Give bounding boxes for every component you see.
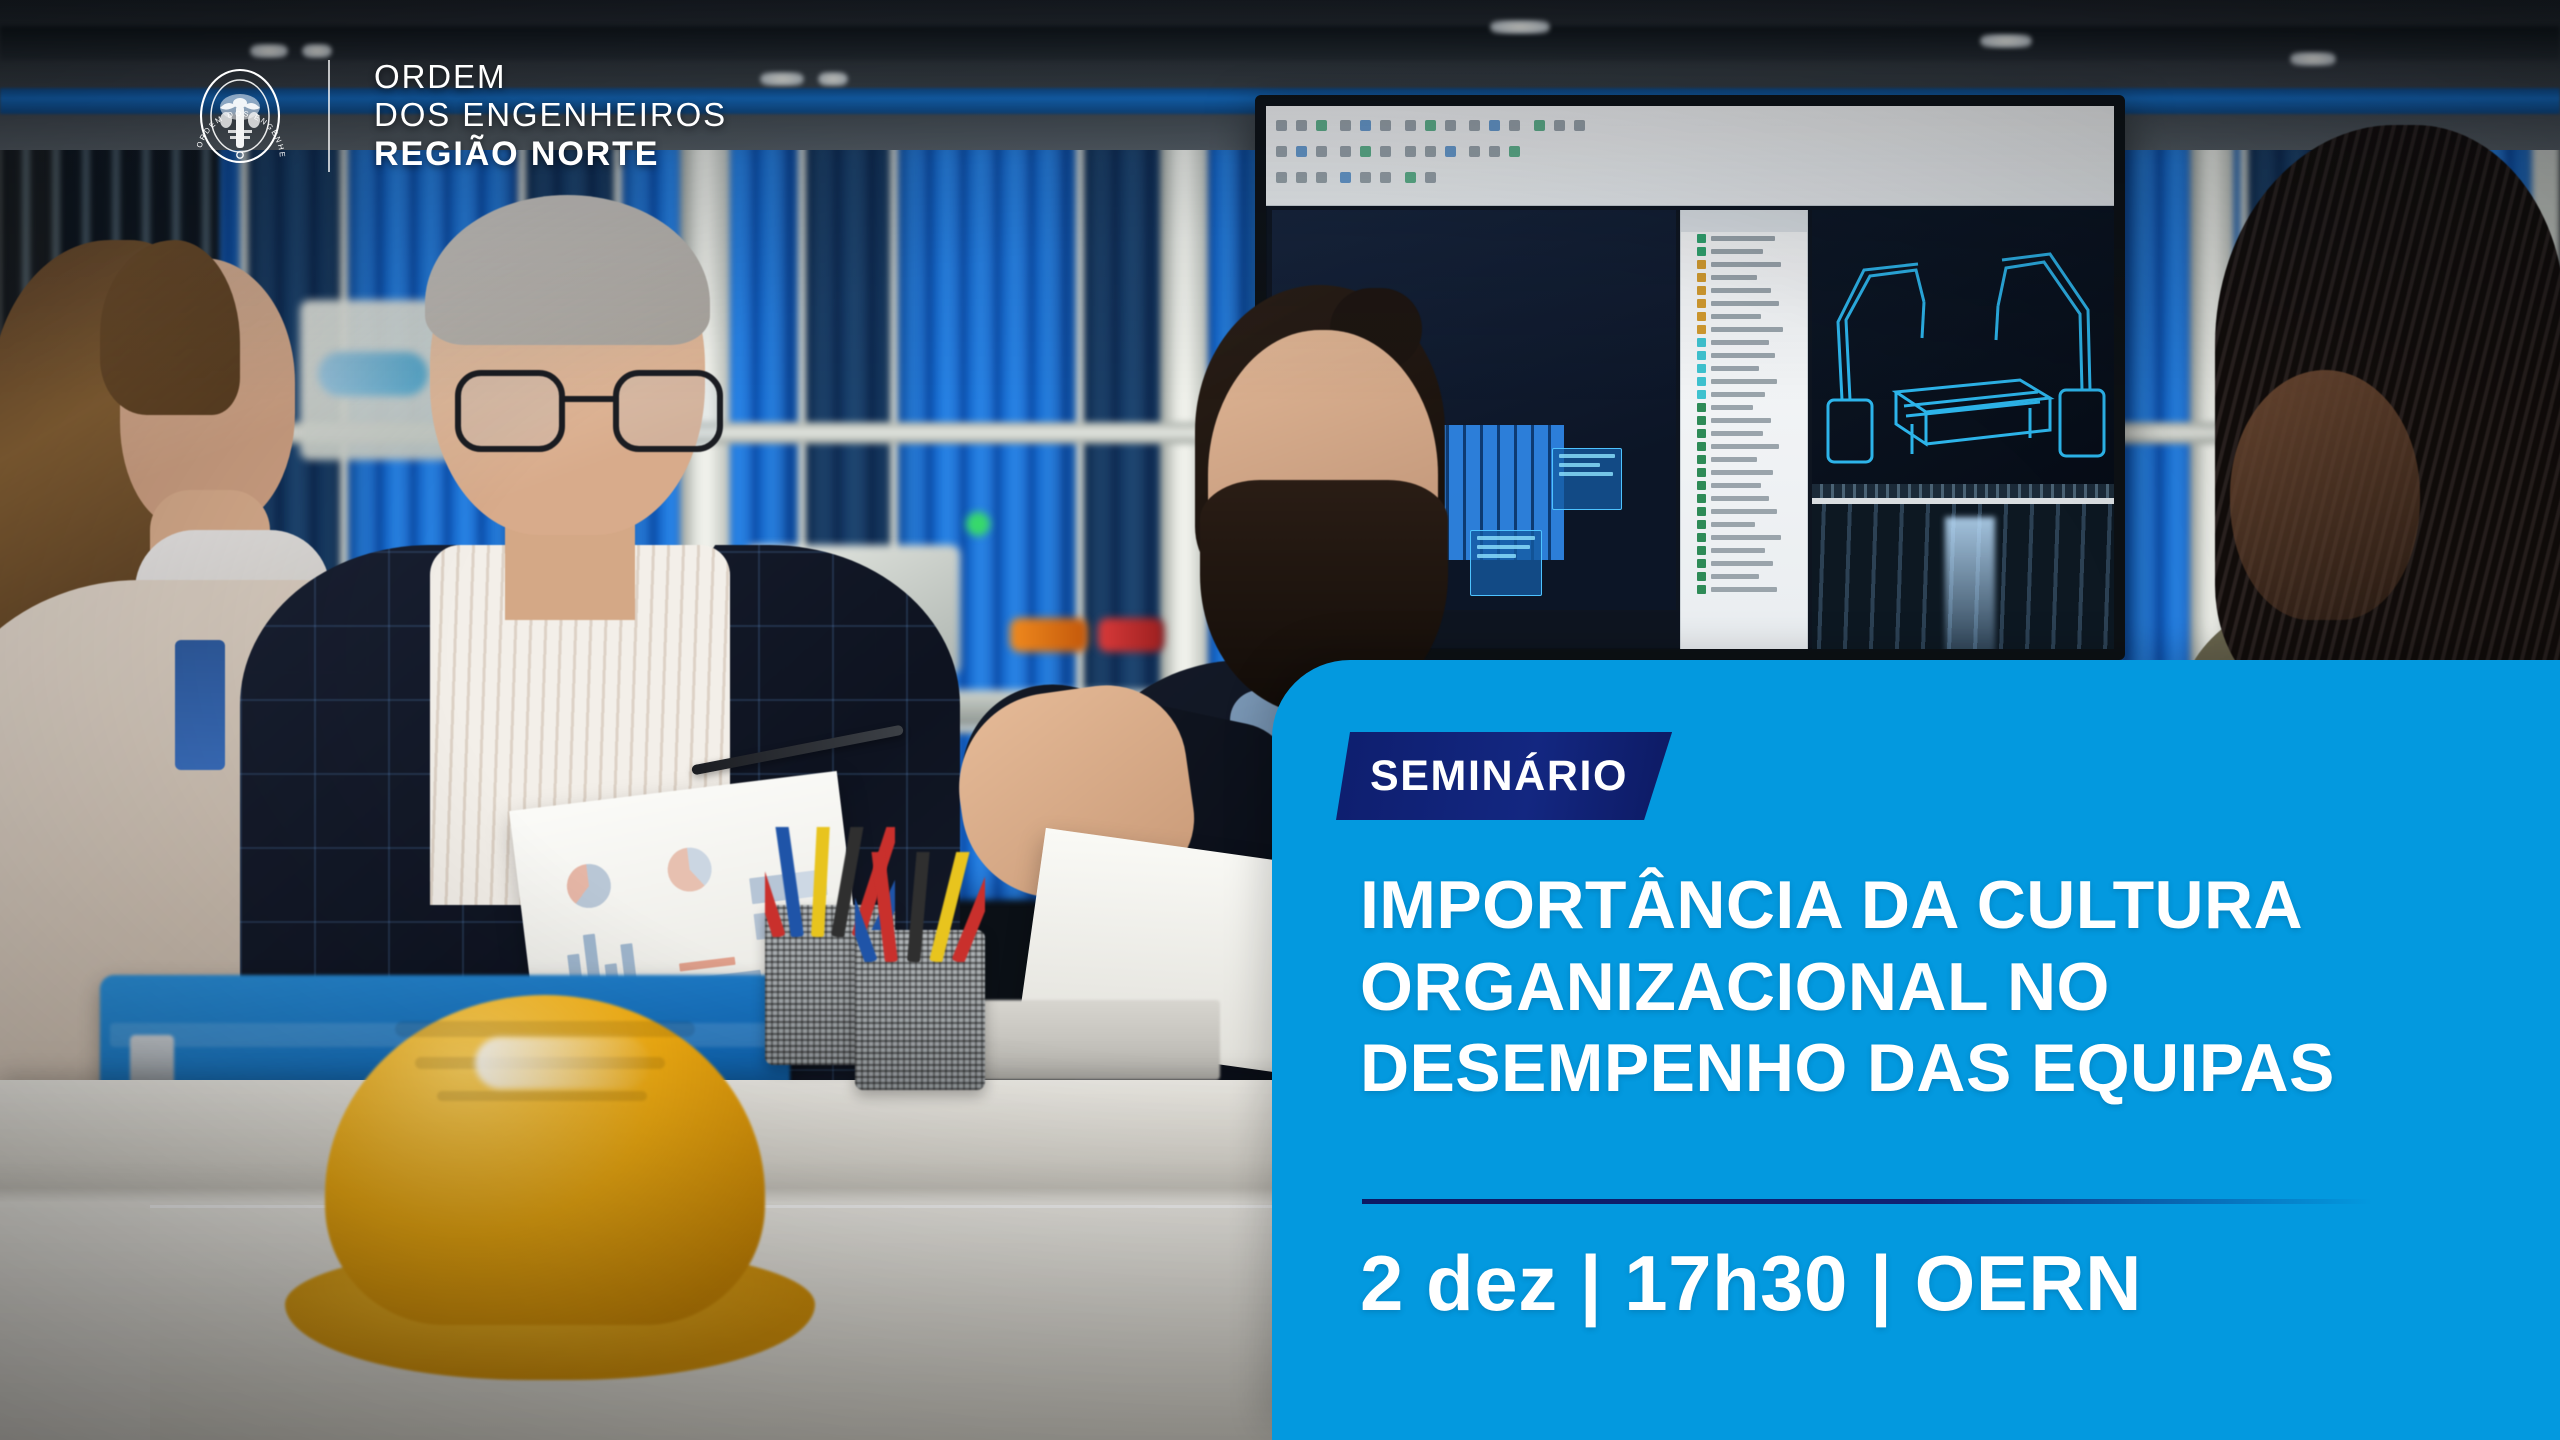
event-banner: ORDEM DOS ENGENHEIROS ORDEM DOS ENGENHEI…: [0, 0, 2560, 1440]
robot-arm-blur: [318, 352, 428, 396]
monitor-toolbar: [1266, 106, 2114, 206]
event-info-panel: SEMINÁRIO IMPORTÂNCIA DA CULTURA ORGANIZ…: [1272, 660, 2560, 1440]
indicator-panel-b: [1010, 618, 1088, 652]
ordem-dos-engenheiros-seal-icon: ORDEM DOS ENGENHEIROS: [186, 62, 294, 170]
callout-tag-3: [1470, 530, 1542, 596]
callout-tag-2: [1552, 448, 1622, 510]
robot-arm-wireframe-icon: [1812, 210, 2125, 490]
monitor-file-list: [1680, 210, 1808, 660]
event-title-line-3: DESEMPENHO DAS EQUIPAS: [1360, 1028, 2490, 1110]
lanyard-badge: [175, 640, 225, 770]
yellow-hard-hat: [285, 995, 815, 1390]
logo-divider: [328, 60, 330, 172]
event-title-line-2: ORGANIZACIONAL NO: [1360, 947, 2490, 1029]
cad-status-bar: [1812, 484, 2125, 498]
indicator-panel-c: [1098, 618, 1164, 652]
robot-arm-cad-viewport: [1812, 210, 2125, 490]
title-date-divider: [1362, 1199, 2372, 1204]
event-title-line-1: IMPORTÂNCIA DA CULTURA: [1360, 865, 2490, 947]
logo-line-2: DOS ENGENHEIROS: [374, 96, 727, 134]
eyeglasses-icon: [455, 370, 725, 460]
event-type-badge: SEMINÁRIO: [1336, 732, 1672, 820]
factory-camera-feed: [1812, 504, 2125, 660]
badge-label: SEMINÁRIO: [1370, 752, 1628, 801]
pen-holder-right: [855, 930, 985, 1090]
oern-logo: ORDEM DOS ENGENHEIROS ORDEM DOS ENGENHEI…: [186, 58, 727, 174]
logo-line-1: ORDEM: [374, 58, 727, 96]
logo-wordmark: ORDEM DOS ENGENHEIROS REGIÃO NORTE: [374, 58, 727, 174]
logo-line-3: REGIÃO NORTE: [374, 135, 727, 174]
event-date-time-venue: 2 dez | 17h30 | OERN: [1360, 1238, 2142, 1329]
status-light-green: [966, 512, 990, 536]
event-title: IMPORTÂNCIA DA CULTURA ORGANIZACIONAL NO…: [1360, 865, 2490, 1110]
